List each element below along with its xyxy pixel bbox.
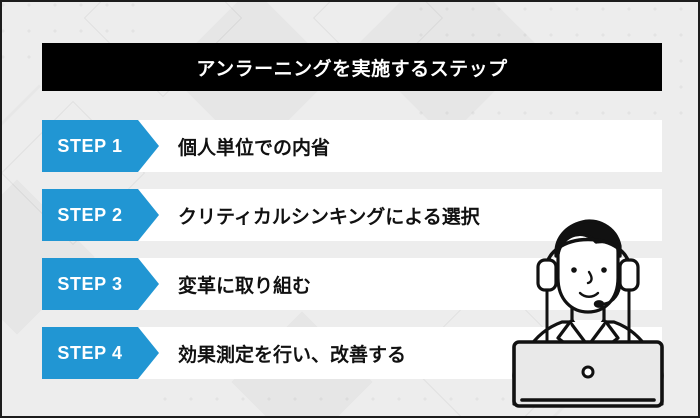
step-tag-label: STEP 1 — [57, 136, 122, 157]
title-bar: アンラーニングを実施するステップ — [42, 43, 662, 91]
step-tag-label: STEP 2 — [57, 205, 122, 226]
step-row: STEP 2 クリティカルシンキングによる選択 — [42, 189, 662, 241]
step-tag-label: STEP 3 — [57, 274, 122, 295]
page-title: アンラーニングを実施するステップ — [196, 54, 507, 81]
stripe-1 — [2, 84, 41, 199]
step-description: 効果測定を行い、改善する — [138, 327, 662, 379]
step-description: クリティカルシンキングによる選択 — [138, 189, 662, 241]
step-description: 個人単位での内省 — [138, 120, 662, 172]
step-tag-2: STEP 2 — [42, 189, 138, 241]
step-row: STEP 1 個人単位での内省 — [42, 120, 662, 172]
step-tag-label: STEP 4 — [57, 343, 122, 364]
step-description: 変革に取り組む — [138, 258, 662, 310]
step-tag-1: STEP 1 — [42, 120, 138, 172]
infographic-canvas: アンラーニングを実施するステップ STEP 1 個人単位での内省 STEP 2 … — [0, 0, 700, 418]
step-row: STEP 4 効果測定を行い、改善する — [42, 327, 662, 379]
step-tag-3: STEP 3 — [42, 258, 138, 310]
step-row: STEP 3 変革に取り組む — [42, 258, 662, 310]
step-tag-4: STEP 4 — [42, 327, 138, 379]
